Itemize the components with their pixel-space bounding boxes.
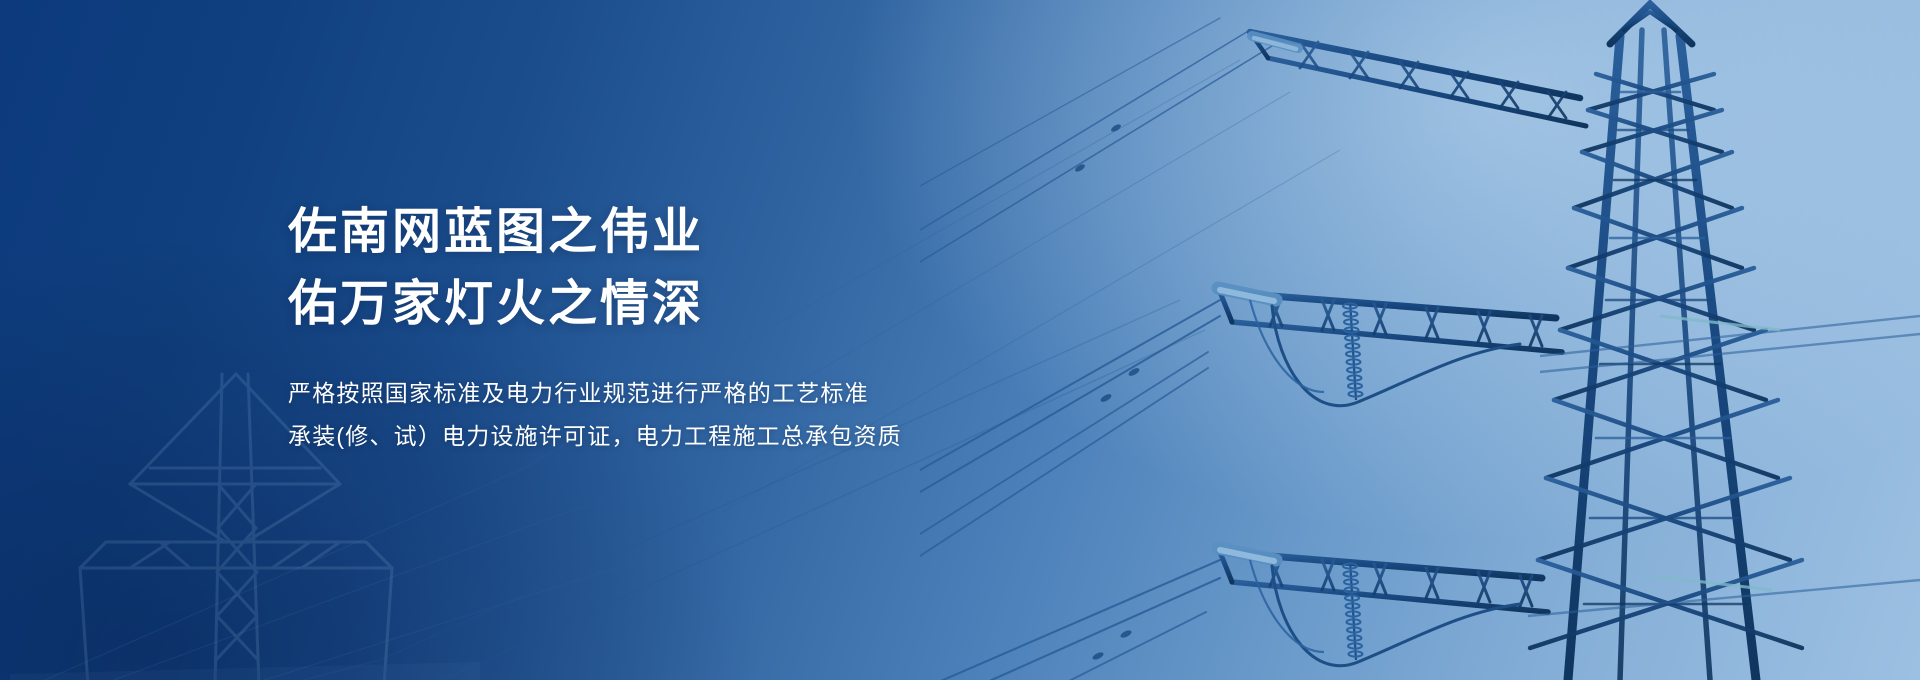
headline-line-2: 佑万家灯火之情深 — [288, 268, 1108, 340]
subtitle-line-1: 严格按照国家标准及电力行业规范进行严格的工艺标准 — [288, 372, 1108, 415]
hero-banner: 佐南网蓝图之伟业 佑万家灯火之情深 严格按照国家标准及电力行业规范进行严格的工艺… — [0, 0, 1920, 680]
hero-copy: 佐南网蓝图之伟业 佑万家灯火之情深 严格按照国家标准及电力行业规范进行严格的工艺… — [288, 196, 1108, 458]
subtitle-block: 严格按照国家标准及电力行业规范进行严格的工艺标准 承装(修、试）电力设施许可证，… — [288, 372, 1108, 458]
headline-line-1: 佐南网蓝图之伟业 — [288, 196, 1108, 268]
subtitle-line-2: 承装(修、试）电力设施许可证，电力工程施工总承包资质 — [288, 415, 1108, 458]
